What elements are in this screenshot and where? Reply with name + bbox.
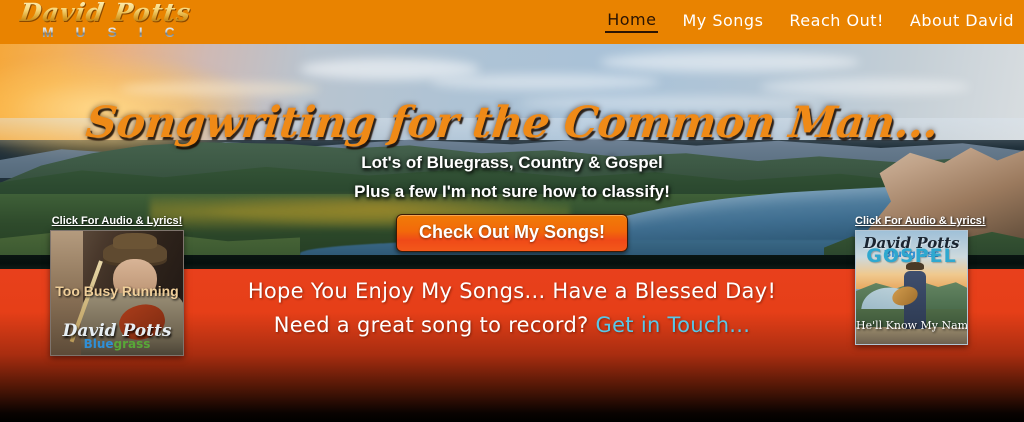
album-left-genre-part2: grass (114, 337, 151, 351)
album-right-title: He'll Know My Name (856, 319, 967, 332)
album-left-genre-part1: Blue (84, 337, 114, 351)
album-right-cover-art[interactable]: David Potts Bluegrass GOSPEL He'll Know … (855, 230, 968, 345)
site-logo[interactable]: David Potts David Potts M U S I C (14, 1, 264, 44)
hero-cloud (120, 82, 320, 96)
album-left-click-label[interactable]: Click For Audio & Lyrics! (50, 215, 184, 227)
site-header: David Potts David Potts M U S I C Home M… (0, 0, 1024, 44)
hero-headline: Songwriting for the Common Man... (0, 98, 1024, 148)
nav-item-home[interactable]: Home (605, 9, 658, 33)
logo-subtitle-music: M U S I C (42, 24, 184, 40)
album-left-title: Too Busy Running (51, 283, 183, 299)
album-card-hell-know-my-name[interactable]: Click For Audio & Lyrics! David Potts Bl… (855, 215, 986, 345)
album-right-click-label[interactable]: Click For Audio & Lyrics! (855, 215, 986, 227)
footer-line-2-prefix: Need a great song to record? (274, 313, 596, 337)
album-left-genre: Bluegrass (51, 337, 183, 351)
hero-cloud (600, 52, 860, 72)
nav-item-reach-out[interactable]: Reach Out! (787, 10, 886, 32)
get-in-touch-link[interactable]: Get in Touch... (596, 313, 751, 337)
hero-cloud (430, 74, 660, 90)
hero-subline-2: Plus a few I'm not sure how to classify! (0, 182, 1024, 202)
nav-item-about-david[interactable]: About David (908, 10, 1016, 32)
album-right-genre-big: GOSPEL (856, 245, 967, 267)
hero-subline-1: Lot's of Bluegrass, Country & Gospel (0, 153, 1024, 173)
main-navigation: Home My Songs Reach Out! About David (605, 9, 1016, 33)
logo-script-text: David Potts (18, 0, 193, 27)
page-root: David Potts David Potts M U S I C Home M… (0, 0, 1024, 422)
nav-item-my-songs[interactable]: My Songs (680, 10, 765, 32)
hero-cloud (760, 78, 970, 96)
check-out-my-songs-button[interactable]: Check Out My Songs! (396, 214, 628, 252)
album-card-too-busy-running[interactable]: Click For Audio & Lyrics! Too Busy Runni… (50, 215, 184, 356)
album-left-cover-art[interactable]: Too Busy Running David Potts Bluegrass (50, 230, 184, 356)
